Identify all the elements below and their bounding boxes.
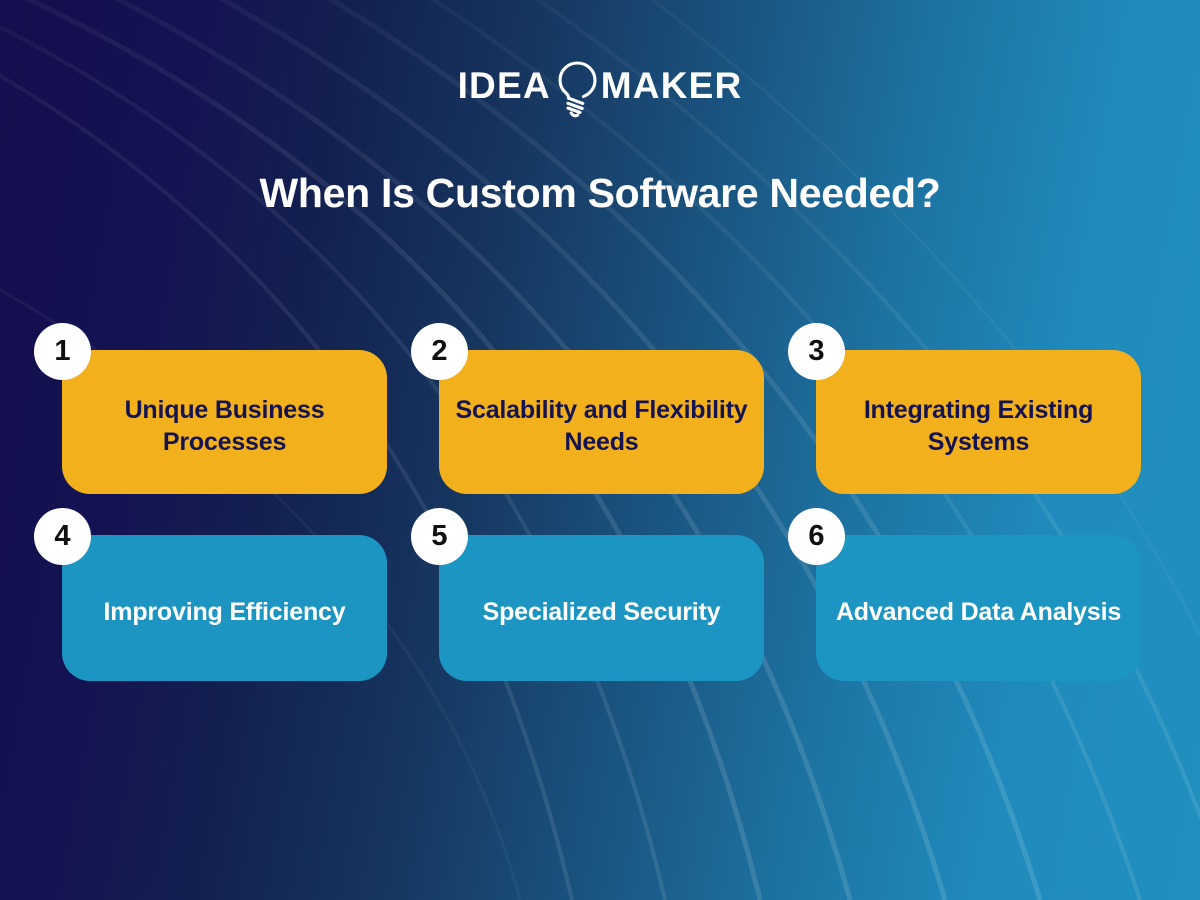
card-label-4: Improving Efficiency (104, 596, 346, 629)
card-label-5: Specialized Security (483, 596, 721, 629)
card-body-3[interactable]: Integrating Existing Systems (816, 350, 1141, 494)
brand-logo: IDEA MAKER (0, 55, 1200, 115)
card-item-1[interactable]: Unique Business Processes 1 (62, 350, 387, 494)
cards-row-top: Unique Business Processes 1 Scalability … (62, 350, 1142, 494)
brand-word-right: MAKER (601, 67, 743, 104)
card-item-2[interactable]: Scalability and Flexibility Needs 2 (439, 350, 764, 494)
card-number-badge-5: 5 (411, 508, 468, 565)
card-number-badge-6: 6 (788, 508, 845, 565)
card-number-badge-4: 4 (34, 508, 91, 565)
card-number-badge-2: 2 (411, 323, 468, 380)
card-label-3: Integrating Existing Systems (832, 394, 1125, 459)
card-number-badge-3: 3 (788, 323, 845, 380)
card-item-3[interactable]: Integrating Existing Systems 3 (816, 350, 1141, 494)
cards-grid: Unique Business Processes 1 Scalability … (62, 350, 1142, 681)
card-body-2[interactable]: Scalability and Flexibility Needs (439, 350, 764, 494)
card-label-6: Advanced Data Analysis (836, 596, 1121, 629)
card-body-4[interactable]: Improving Efficiency (62, 535, 387, 681)
page-title: When Is Custom Software Needed? (0, 170, 1200, 217)
cards-row-bottom: Improving Efficiency 4 Specialized Secur… (62, 535, 1142, 681)
lightbulb-icon (553, 58, 599, 118)
card-body-5[interactable]: Specialized Security (439, 535, 764, 681)
card-item-5[interactable]: Specialized Security 5 (439, 535, 764, 681)
card-item-4[interactable]: Improving Efficiency 4 (62, 535, 387, 681)
card-item-6[interactable]: Advanced Data Analysis 6 (816, 535, 1141, 681)
card-body-1[interactable]: Unique Business Processes (62, 350, 387, 494)
card-number-badge-1: 1 (34, 323, 91, 380)
brand-word-left: IDEA (458, 67, 551, 104)
card-body-6[interactable]: Advanced Data Analysis (816, 535, 1141, 681)
card-label-2: Scalability and Flexibility Needs (455, 394, 748, 459)
card-label-1: Unique Business Processes (78, 394, 371, 459)
